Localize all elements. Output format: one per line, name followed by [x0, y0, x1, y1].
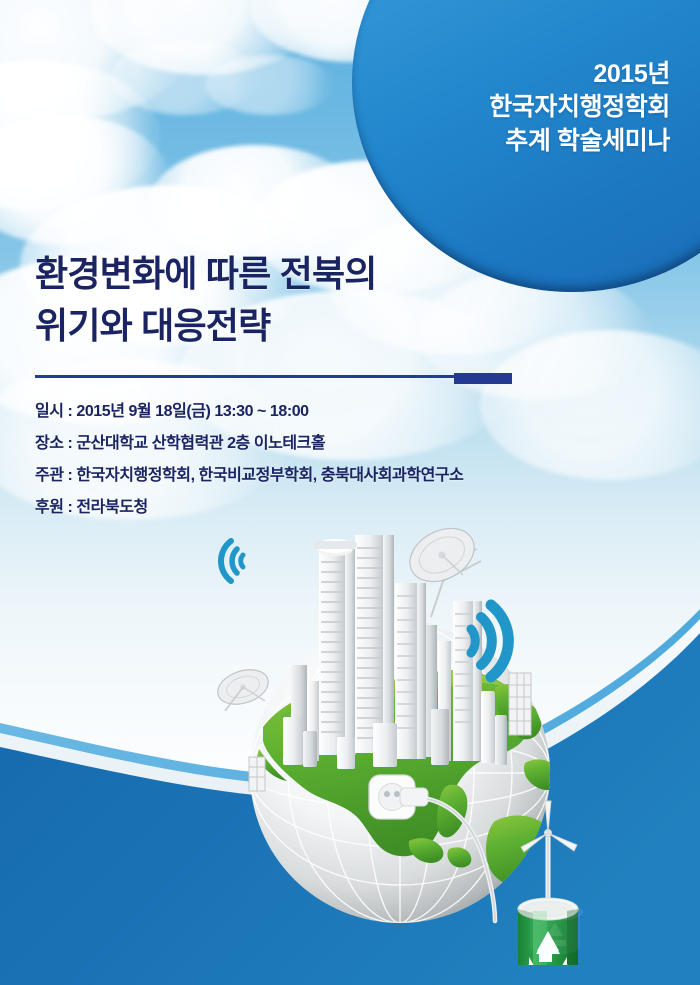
detail-sponsor: 후원 : 전라북도청 [35, 492, 463, 524]
divider-block [454, 373, 512, 384]
globe-illustration [195, 505, 615, 965]
event-details: 일시 : 2015년 9월 18일(금) 13:30 ~ 18:00 장소 : … [35, 396, 463, 524]
detail-datetime: 일시 : 2015년 9월 18일(금) 13:30 ~ 18:00 [35, 396, 463, 428]
divider-line [35, 375, 512, 378]
title-divider [35, 373, 512, 385]
detail-organizer: 주관 : 한국자치행정학회, 한국비교정부학회, 충북대사회과학연구소 [35, 460, 463, 492]
header-line-year: 2015년 [380, 58, 670, 91]
header-title: 2015년 한국자치행정학회 추계 학술세미나 [380, 58, 670, 158]
header-line-society: 한국자치행정학회 [380, 91, 670, 124]
poster-canvas: 2015년 한국자치행정학회 추계 학술세미나 환경변화에 따른 전북의 위기와… [0, 0, 700, 985]
header-line-seminar: 추계 학술세미나 [380, 125, 670, 158]
detail-venue: 장소 : 군산대학교 산학협력관 2층 이노테크홀 [35, 428, 463, 460]
title-line-2: 위기와 대응전략 [35, 300, 377, 352]
satellite-dish [213, 664, 272, 711]
recycle-battery-icon [516, 898, 580, 965]
title-line-1: 환경변화에 따른 전북의 [35, 248, 377, 300]
poster-title: 환경변화에 따른 전북의 위기와 대응전략 [35, 248, 377, 352]
